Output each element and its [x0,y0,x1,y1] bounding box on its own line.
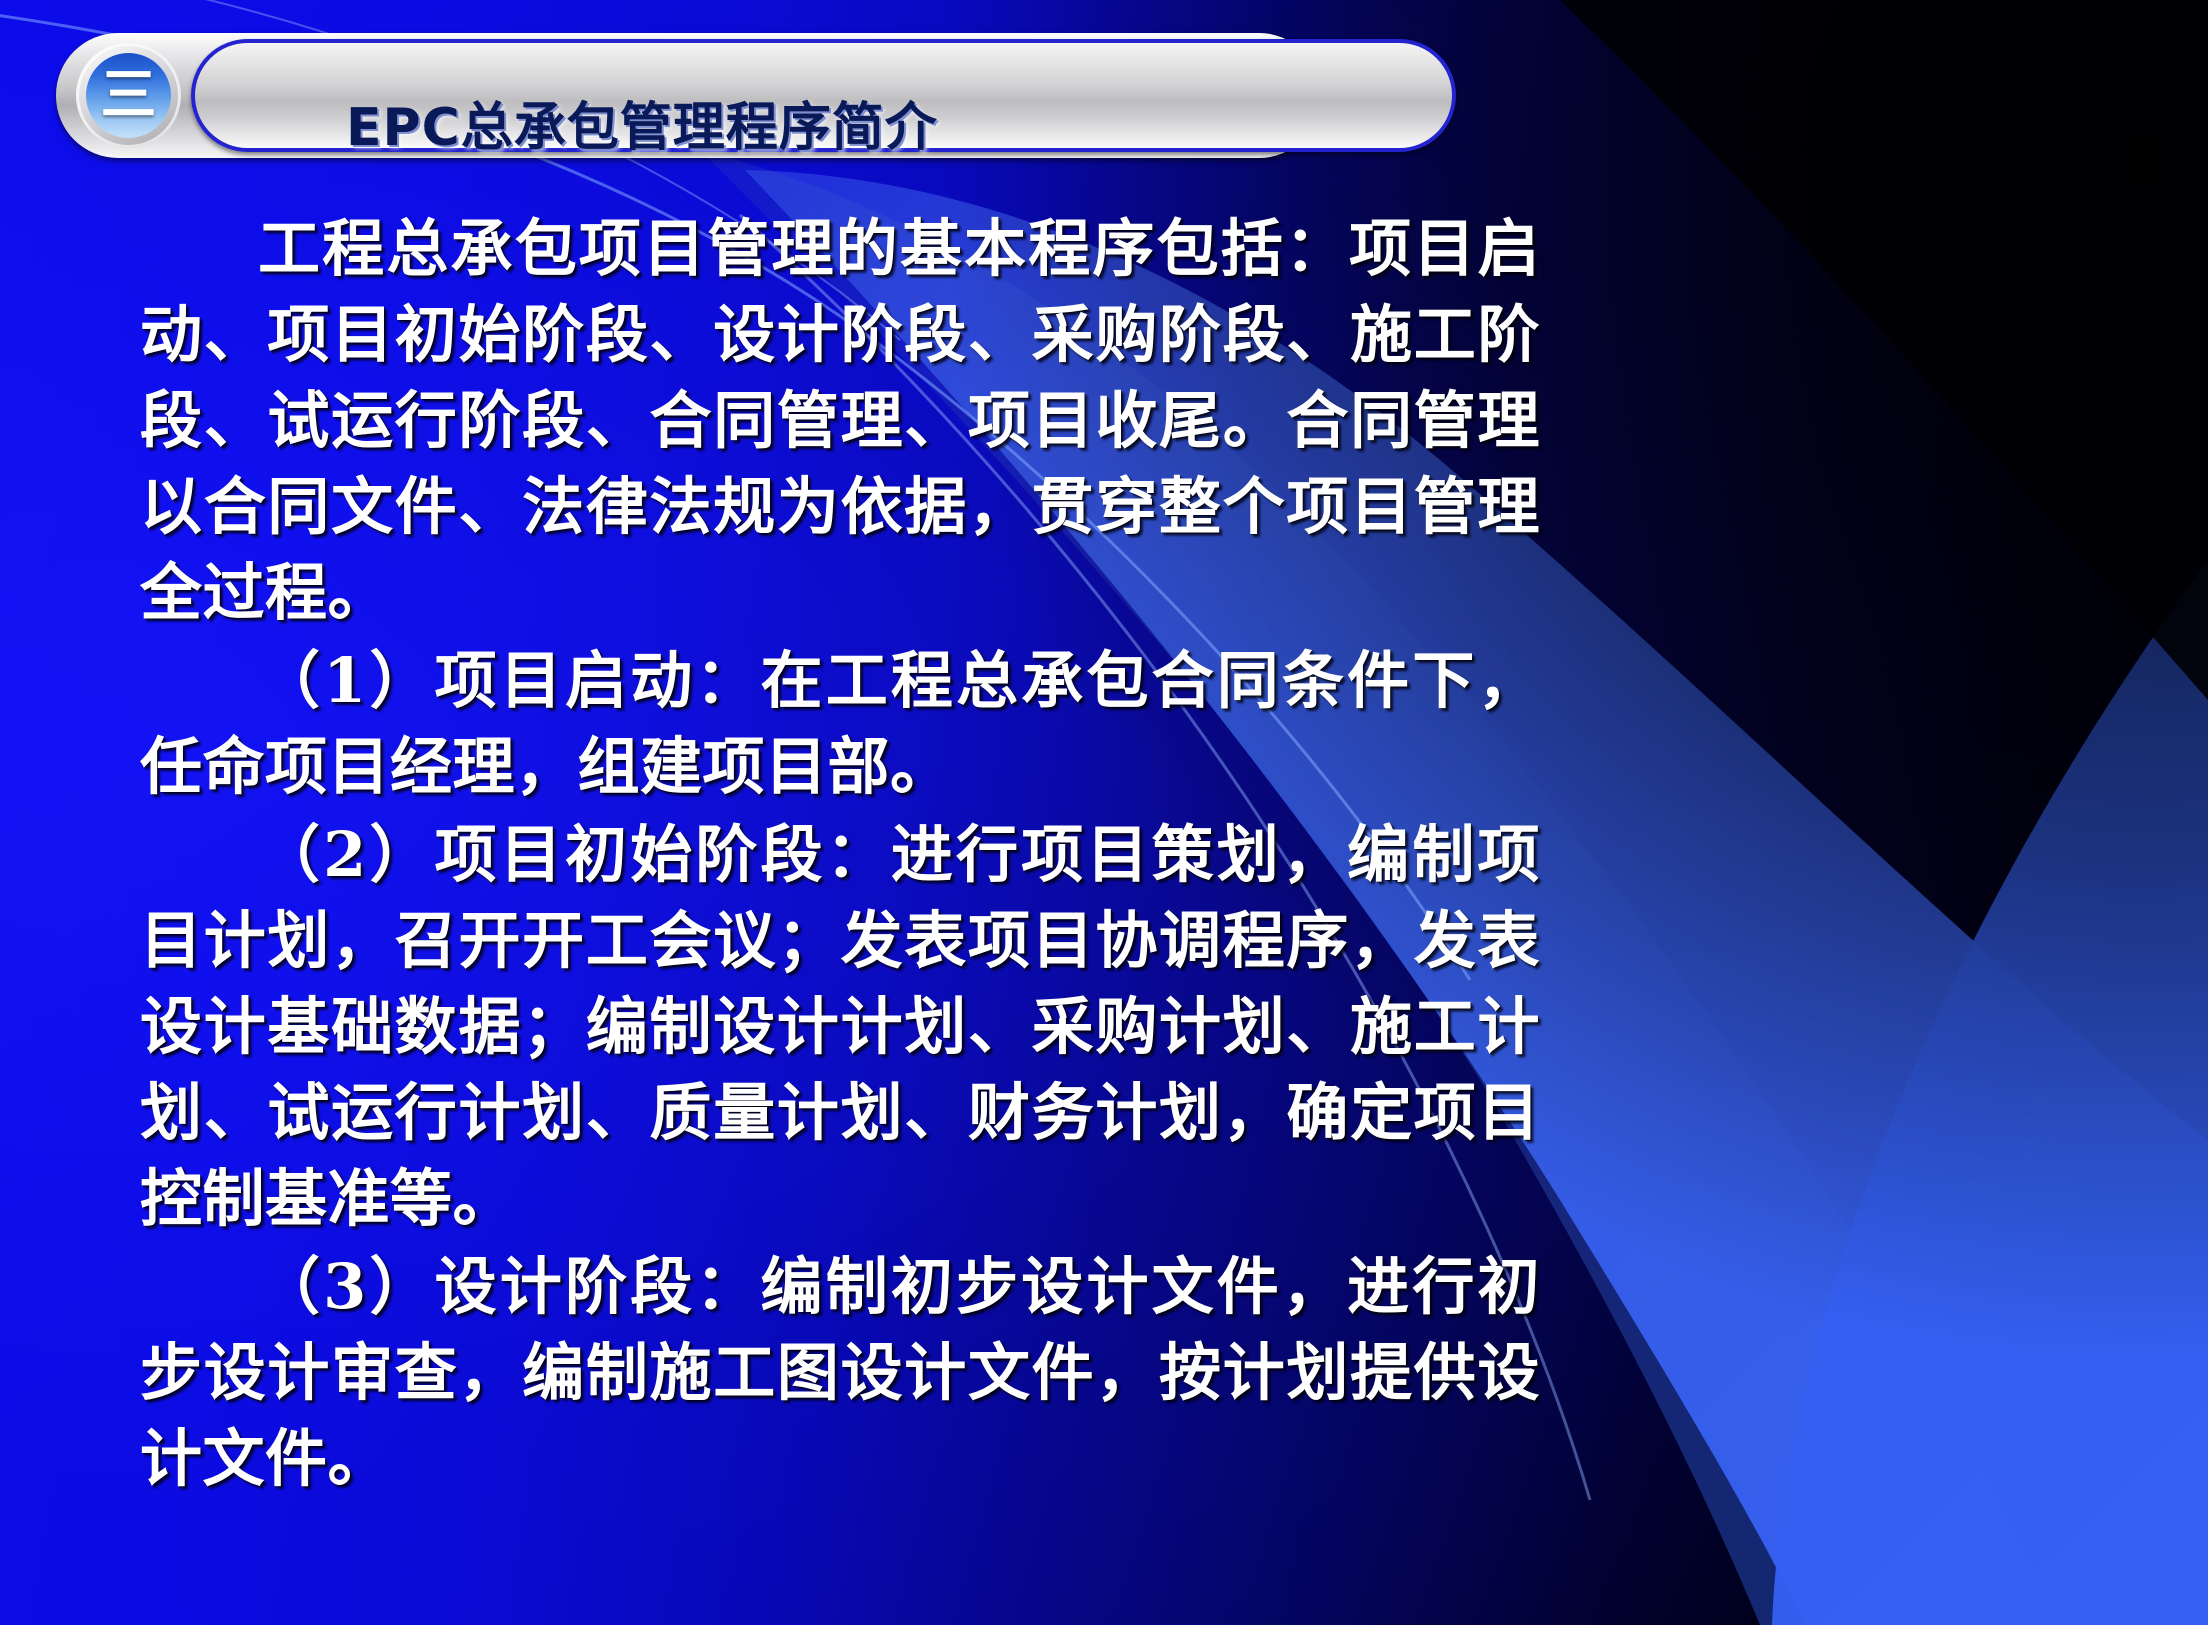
section-badge: 三 [86,53,171,138]
body-paragraph: （2）项目初始阶段：进行项目策划，编制项目计划，召开开工会议；发表项目协调程序，… [140,812,1540,1242]
body-paragraph: （3）设计阶段：编制初步设计文件，进行初步设计审查，编制施工图设计文件，按计划提… [140,1244,1540,1502]
page-title: EPC总承包管理程序简介 [346,85,938,160]
slide: 三 EPC总承包管理程序简介 工程总承包项目管理的基本程序包括：项目启动、项目初… [0,0,2208,1625]
slide-body: 工程总承包项目管理的基本程序包括：项目启动、项目初始阶段、设计阶段、采购阶段、施… [140,206,1540,1502]
slide-header: 三 EPC总承包管理程序简介 [56,33,1456,158]
body-paragraph: 工程总承包项目管理的基本程序包括：项目启动、项目初始阶段、设计阶段、采购阶段、施… [140,206,1540,636]
body-paragraph: （1）项目启动：在工程总承包合同条件下，任命项目经理，组建项目部。 [140,638,1540,810]
section-badge-number: 三 [101,68,157,124]
